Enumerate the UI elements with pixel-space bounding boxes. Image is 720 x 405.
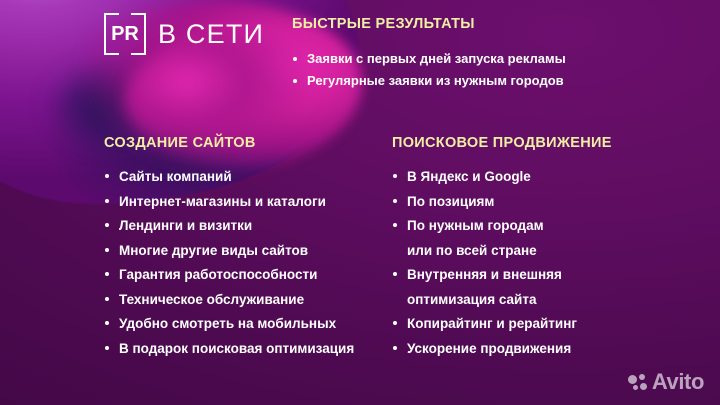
brand-logo: PR В СЕТИ: [104, 13, 264, 55]
list-item-text: Заявки с первых дней запуска рекламы: [307, 51, 566, 66]
list-item: Сайты компаний: [104, 165, 389, 190]
list-item: Ускорение продвижения: [392, 337, 677, 362]
block-search-promotion: ПОИСКОВОЕ ПРОДВИЖЕНИЕ В Яндекс и Google …: [392, 135, 677, 361]
list-item: В подарок поисковая оптимизация: [104, 337, 389, 362]
list-item-text: В подарок поисковая оптимизация: [119, 341, 354, 356]
list-item: Многие другие виды сайтов: [104, 239, 389, 264]
list-item: Регулярные заявки из нужным городов: [292, 70, 622, 92]
block-fast-results: БЫСТРЫЕ РЕЗУЛЬТАТЫ Заявки с первых дней …: [292, 16, 622, 92]
list-item: Интернет-магазины и каталоги: [104, 190, 389, 215]
list-item-text-continued: оптимизация сайта: [407, 288, 677, 313]
avito-dot-2: [639, 374, 645, 380]
promo-slide: PR В СЕТИ БЫСТРЫЕ РЕЗУЛЬТАТЫ Заявки с пе…: [0, 0, 720, 405]
list-item-text: Лендинги и визитки: [119, 218, 252, 233]
block-fast-results-title: БЫСТРЫЕ РЕЗУЛЬТАТЫ: [292, 16, 622, 32]
list-item: Копирайтинг и рерайтинг: [392, 312, 677, 337]
list-item-text: Внутренняя и внешняя: [407, 267, 562, 282]
logo-monogram: PR: [104, 13, 146, 55]
list-item: Внутренняя и внешняя оптимизация сайта: [392, 263, 677, 312]
list-item-text: Многие другие виды сайтов: [119, 243, 308, 258]
list-item-text: По позициям: [407, 194, 494, 209]
list-item-text: Ускорение продвижения: [407, 341, 571, 356]
list-item-text: Гарантия работоспособности: [119, 267, 317, 282]
list-item-text: Удобно смотреть на мобильных: [119, 316, 336, 331]
list-item: Удобно смотреть на мобильных: [104, 312, 389, 337]
block-site-creation: СОЗДАНИЕ САЙТОВ Сайты компаний Интернет-…: [104, 135, 389, 361]
block-search-promotion-title: ПОИСКОВОЕ ПРОДВИЖЕНИЕ: [392, 135, 677, 151]
list-item-text: Регулярные заявки из нужным городов: [307, 73, 564, 88]
block-fast-results-list: Заявки с первых дней запуска рекламы Рег…: [292, 48, 622, 92]
brand-name: В СЕТИ: [158, 19, 264, 50]
list-item-text-continued: или по всей стране: [407, 239, 677, 264]
list-item-text: Интернет-магазины и каталоги: [119, 194, 326, 209]
avito-dot-4: [640, 383, 647, 390]
avito-dots-icon: [628, 374, 647, 391]
list-item: Лендинги и визитки: [104, 214, 389, 239]
list-item-text: Копирайтинг и рерайтинг: [407, 316, 577, 331]
list-item: По нужным городам или по всей стране: [392, 214, 677, 263]
avito-dot-1: [628, 375, 637, 384]
avito-watermark: Avito: [628, 371, 704, 393]
list-item: Техническое обслуживание: [104, 288, 389, 313]
avito-dot-3: [633, 385, 638, 390]
list-item: В Яндекс и Google: [392, 165, 677, 190]
block-search-promotion-list: В Яндекс и Google По позициям По нужным …: [392, 165, 677, 361]
list-item: Заявки с первых дней запуска рекламы: [292, 48, 622, 70]
list-item: По позициям: [392, 190, 677, 215]
list-item-text: Техническое обслуживание: [119, 292, 304, 307]
list-item: Гарантия работоспособности: [104, 263, 389, 288]
list-item-text: В Яндекс и Google: [407, 169, 531, 184]
pr-bracket-frame-icon: PR: [104, 13, 146, 55]
list-item-text: Сайты компаний: [119, 169, 232, 184]
block-site-creation-list: Сайты компаний Интернет-магазины и катал…: [104, 165, 389, 361]
avito-wordmark: Avito: [652, 371, 704, 393]
block-site-creation-title: СОЗДАНИЕ САЙТОВ: [104, 135, 389, 151]
list-item-text: По нужным городам: [407, 218, 544, 233]
